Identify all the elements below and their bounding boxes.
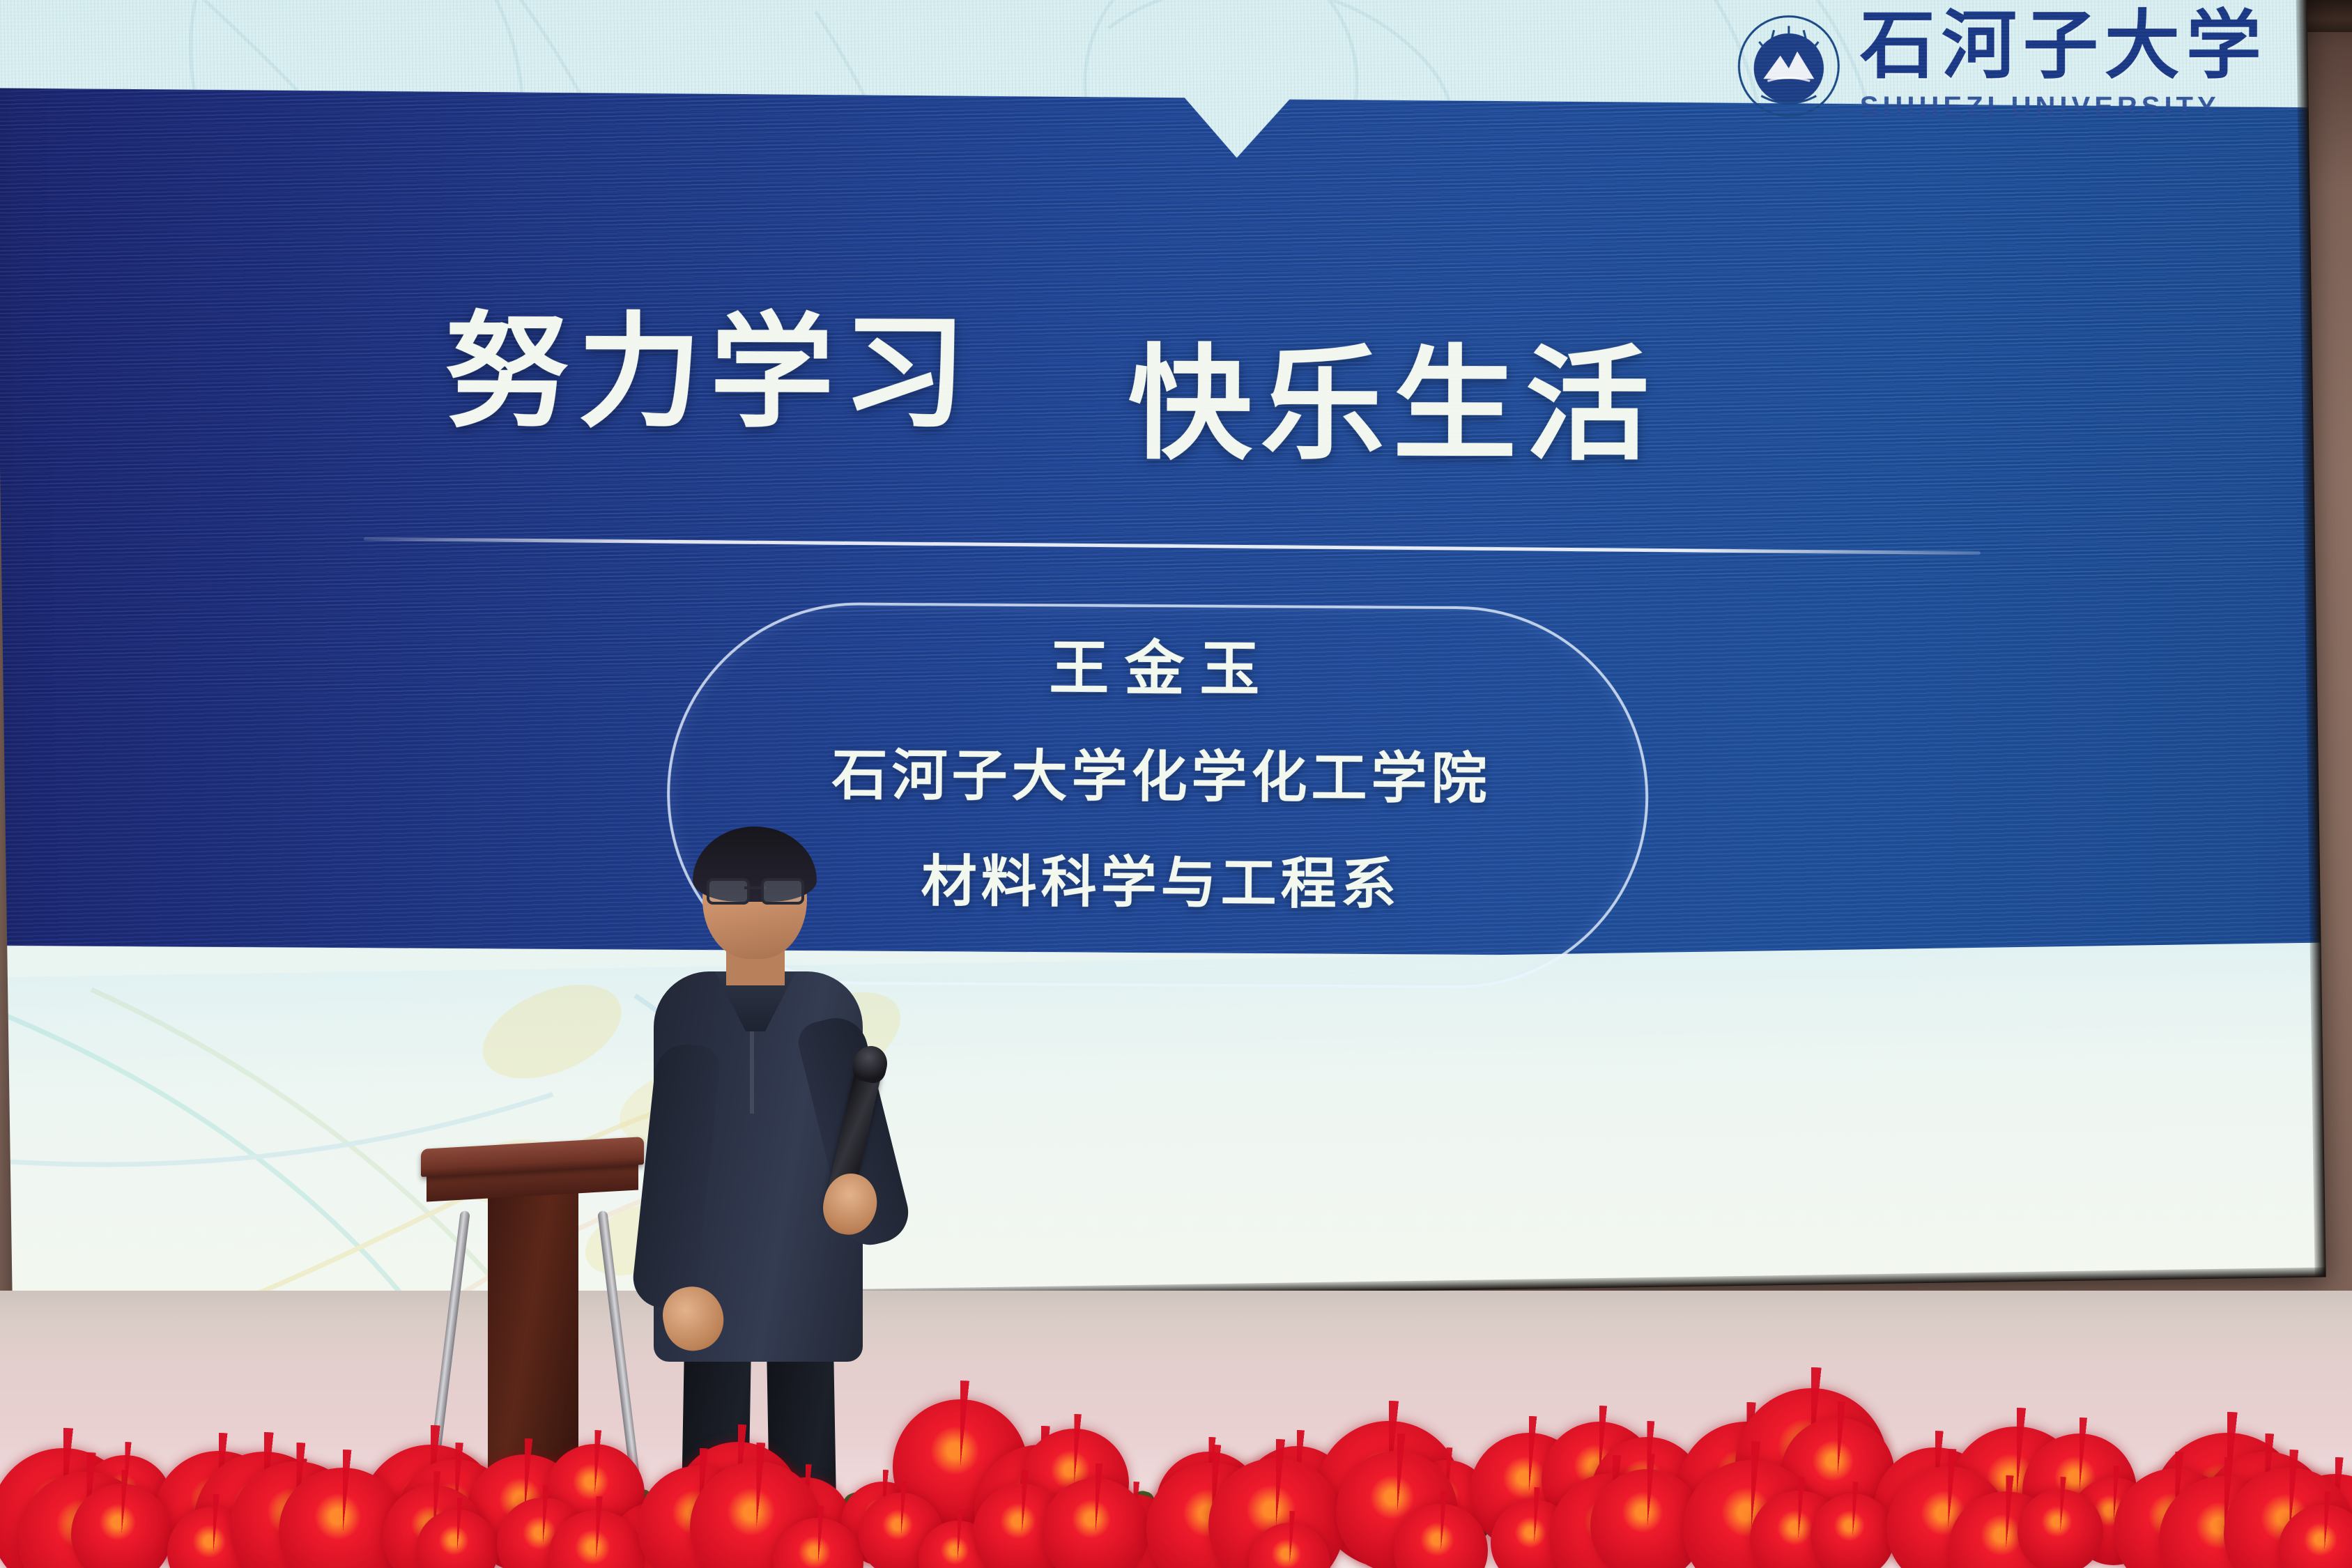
speaker-affiliation-1: 石河子大学化学化工学院 [831,730,1491,815]
speaker-affiliation-2: 材料科学与工程系 [921,836,1401,920]
flower [1394,1504,1488,1568]
glasses-icon [707,878,804,899]
university-seal-icon [1736,13,1842,118]
title-part-1: 努力学习 [445,304,975,442]
flower [2017,1489,2103,1568]
flower [1249,1523,1331,1568]
university-logo: 石河子大学 SHIHEZI UNIVERSITY [1736,9,2268,123]
pastel-decoration [8,943,2326,1312]
title-part-2: 快乐生活 [1128,337,1658,475]
presentation-scene: 石河子大学 SHIHEZI UNIVERSITY 努力学习 快乐生活 王金玉 石… [0,0,2352,1568]
slide-pastel-band [8,943,2326,1312]
led-screen: 石河子大学 SHIHEZI UNIVERSITY 努力学习 快乐生活 王金玉 石… [0,0,2326,1312]
logo-chinese-name: 石河子大学 [1860,9,2268,85]
speaker-name: 王金玉 [1049,619,1275,707]
slide-surface: 石河子大学 SHIHEZI UNIVERSITY 努力学习 快乐生活 王金玉 石… [0,0,2326,1312]
logo-english-name: SHIHEZI UNIVERSITY [1860,91,2220,123]
flower-row [0,1359,2352,1568]
flower [2278,1505,2352,1568]
slide-title: 努力学习 快乐生活 [445,304,1923,475]
